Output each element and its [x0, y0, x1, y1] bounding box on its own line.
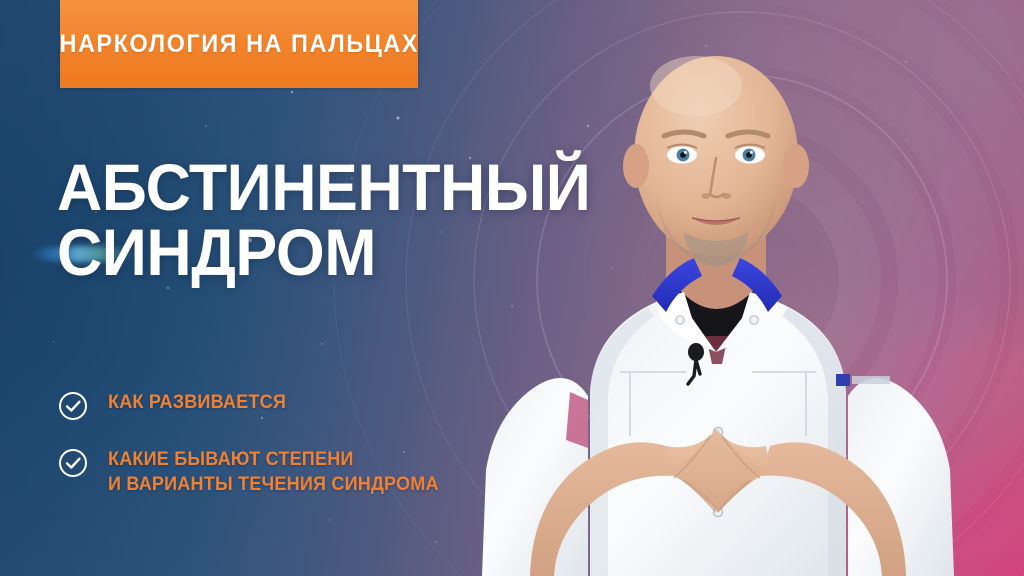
list-item-label: КАКИЕ БЫВАЮТ СТЕПЕНИ И ВАРИАНТЫ ТЕЧЕНИЯ …	[108, 447, 439, 497]
list-item-label: КАК РАЗВИВАЕТСЯ	[108, 390, 286, 415]
page-title-line-1: АБСТИНЕНТНЫЙ	[57, 150, 590, 224]
list-item-line-1: КАКИЕ БЫВАЮТ СТЕПЕНИ	[108, 447, 439, 472]
presenter-photo	[470, 0, 1024, 576]
page-title: АБСТИНЕНТНЫЙ СИНДРОМ	[57, 155, 590, 286]
check-circle-icon	[58, 448, 88, 478]
category-banner: НАРКОЛОГИЯ НА ПАЛЬЦАХ	[60, 0, 418, 88]
list-item-line-1: КАК РАЗВИВАЕТСЯ	[108, 390, 286, 415]
video-thumbnail: НАРКОЛОГИЯ НА ПАЛЬЦАХ АБСТИНЕНТНЫЙ СИНДР…	[0, 0, 1024, 576]
list-item: КАКИЕ БЫВАЮТ СТЕПЕНИ И ВАРИАНТЫ ТЕЧЕНИЯ …	[58, 447, 528, 497]
list-item-line-2: И ВАРИАНТЫ ТЕЧЕНИЯ СИНДРОМА	[108, 472, 439, 497]
check-circle-icon	[58, 391, 88, 421]
bullet-list: КАК РАЗВИВАЕТСЯ КАКИЕ БЫВАЮТ СТЕПЕНИ И В…	[58, 390, 528, 523]
list-item: КАК РАЗВИВАЕТСЯ	[58, 390, 528, 421]
category-banner-label: НАРКОЛОГИЯ НА ПАЛЬЦАХ	[59, 30, 418, 59]
page-title-line-2: СИНДРОМ	[57, 220, 590, 285]
